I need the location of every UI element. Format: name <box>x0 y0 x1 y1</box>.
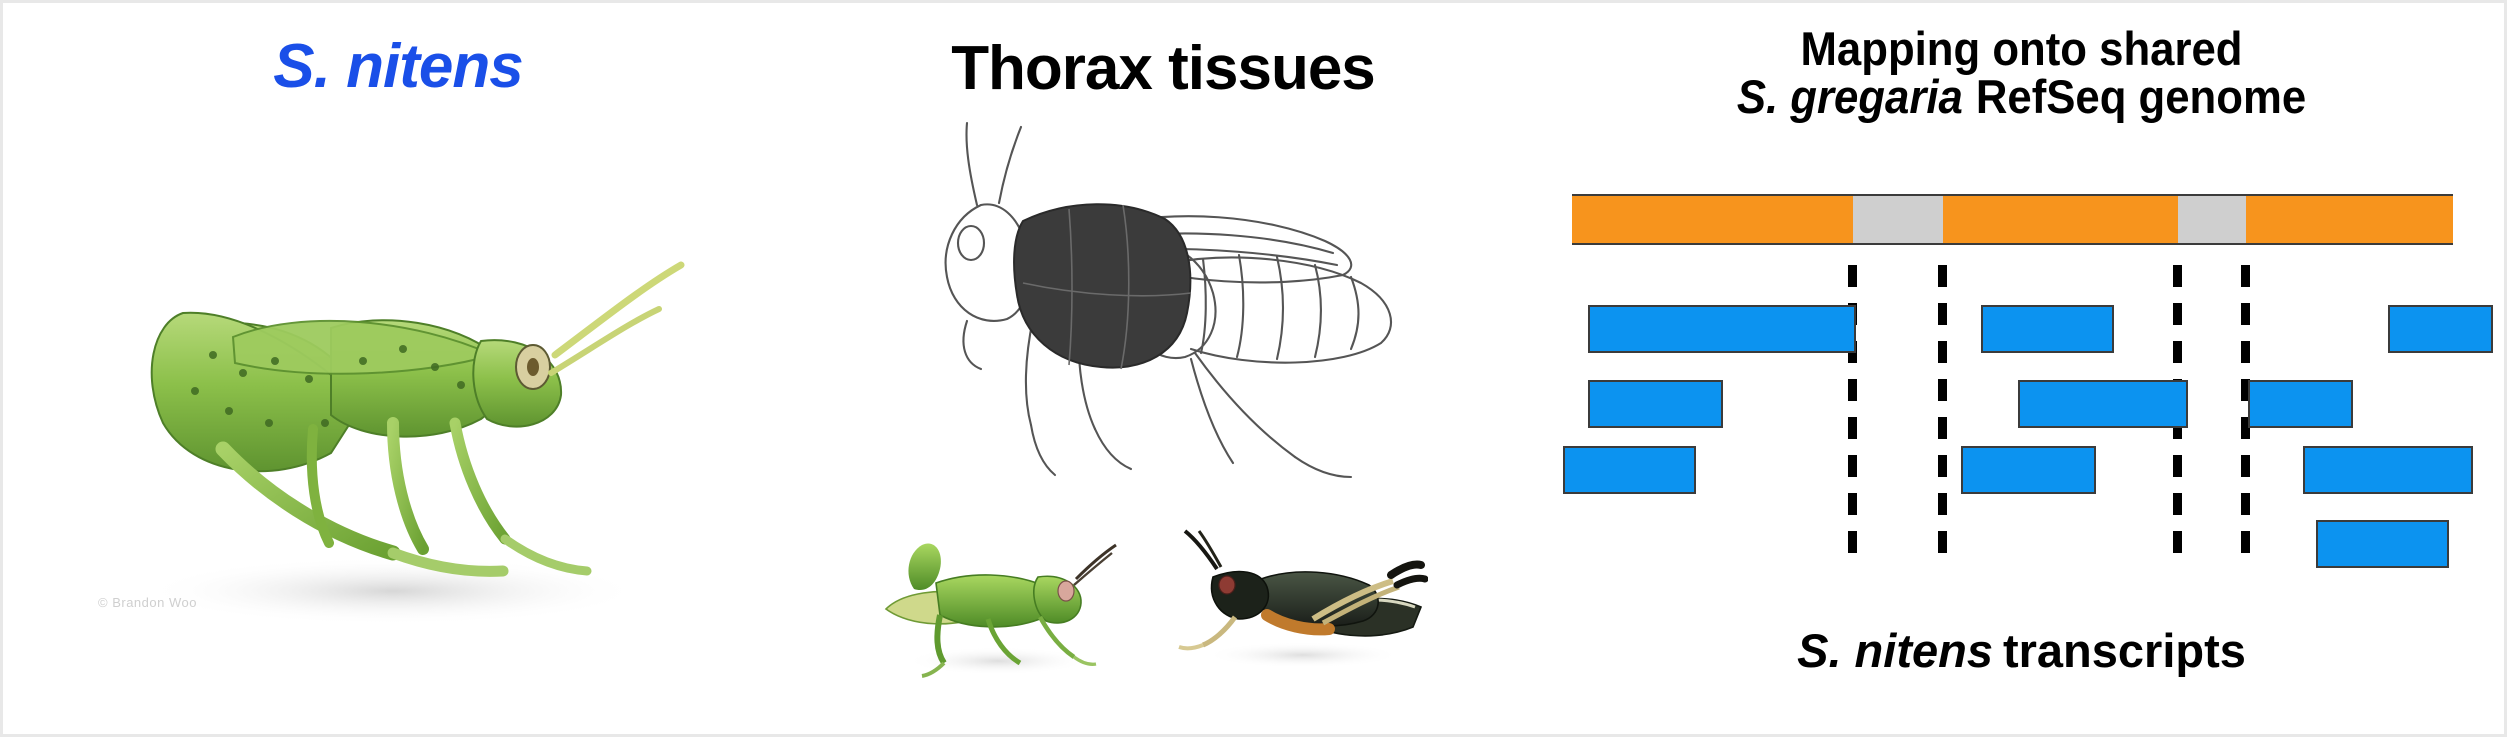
boundary-dashed-line-2 <box>1938 265 1947 560</box>
transcript-block-r3-3 <box>2303 446 2473 494</box>
nymph-green-photo <box>878 531 1123 681</box>
transcript-block-r1-1 <box>1588 305 1856 353</box>
species-title: S. nitens <box>3 31 793 102</box>
transcript-block-r3-1 <box>1563 446 1696 494</box>
transcript-block-r2-3 <box>2248 380 2353 428</box>
thorax-line-drawing <box>873 113 1473 503</box>
transcript-block-r2-2 <box>2018 380 2188 428</box>
panel-thorax: Thorax tissues <box>793 3 1533 740</box>
transcript-block-r1-2 <box>1981 305 2114 353</box>
photo-watermark: © Brandon Woo <box>98 595 197 610</box>
nymph-dark-photo <box>1163 523 1428 673</box>
transcript-block-r1-3 <box>2388 305 2493 353</box>
species-photo <box>63 123 763 663</box>
panel-species: S. nitens <box>3 3 793 740</box>
figure-canvas: S. nitens <box>0 0 2507 737</box>
transcript-block-r2-1 <box>1588 380 1723 428</box>
transcript-block-r4-1 <box>2316 520 2449 568</box>
transcript-alignment-area <box>1533 3 2507 740</box>
transcript-block-r3-2 <box>1961 446 2096 494</box>
thorax-title: Thorax tissues <box>793 33 1533 104</box>
